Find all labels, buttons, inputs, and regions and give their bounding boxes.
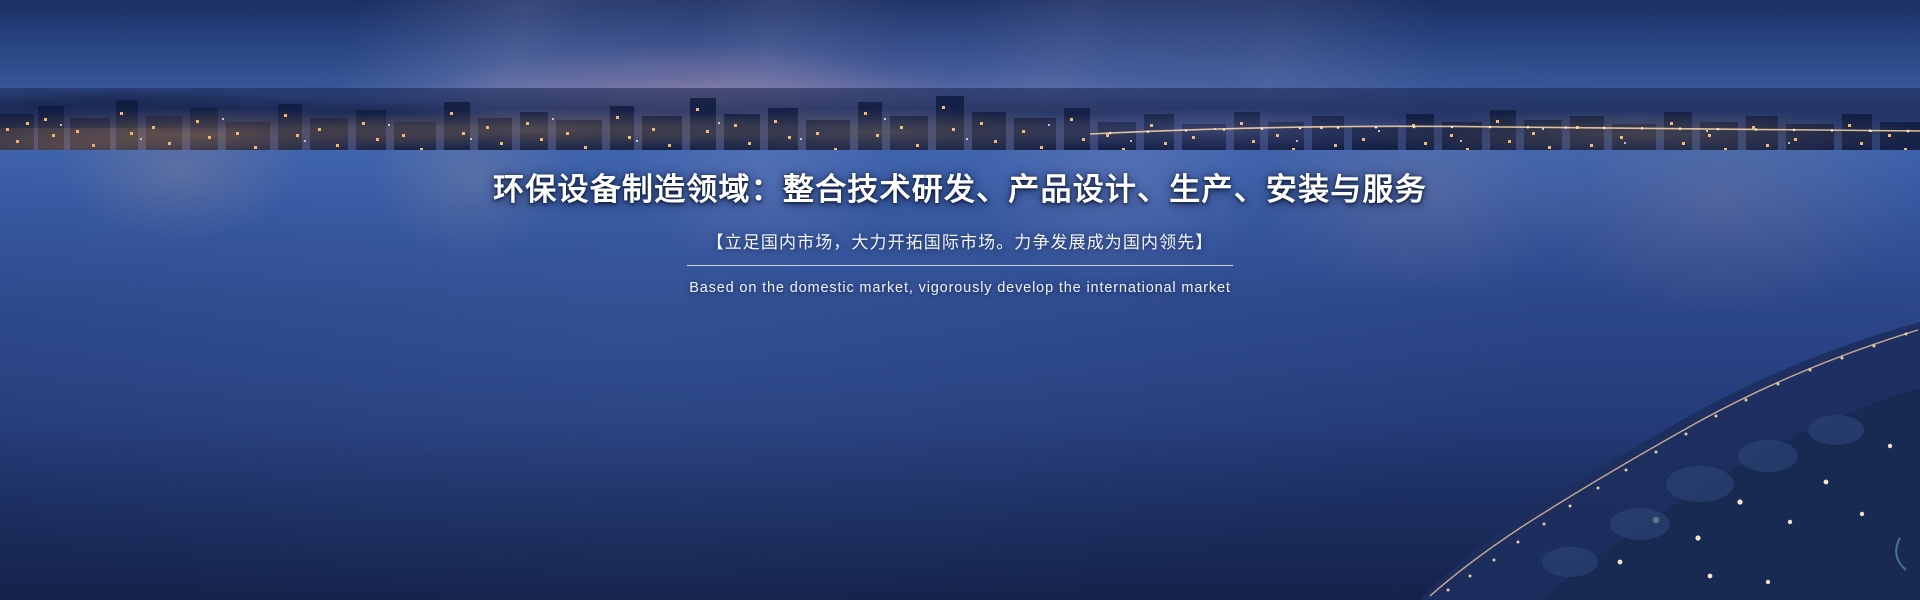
hero-copy: 环保设备制造领域：整合技术研发、产品设计、生产、安装与服务 【立足国内市场，大力… [0,0,1920,600]
hero-tagline-english: Based on the domestic market, vigorously… [689,280,1231,296]
hero-subtitle: 【立足国内市场，大力开拓国际市场。力争发展成为国内领先】 [707,231,1214,255]
hero-banner: 环保设备制造领域：整合技术研发、产品设计、生产、安装与服务 【立足国内市场，大力… [0,0,1920,600]
page-title: 环保设备制造领域：整合技术研发、产品设计、生产、安装与服务 [493,172,1427,209]
title-divider [687,265,1233,266]
